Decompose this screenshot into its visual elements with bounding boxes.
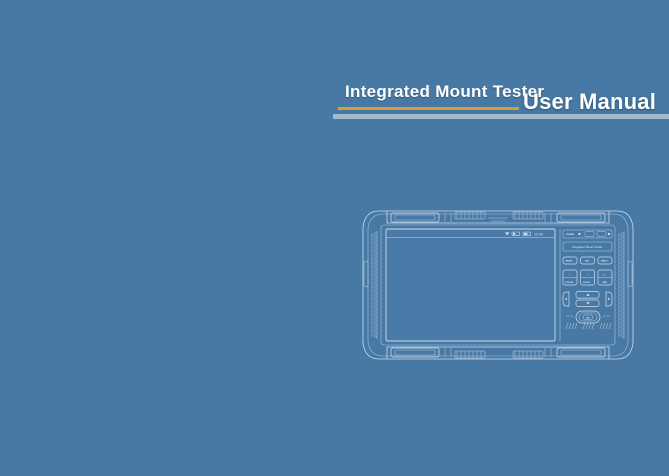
device-screen: 12:00 <box>386 229 555 341</box>
led-indicator-ch <box>585 232 594 237</box>
dpad-down-arrow-icon <box>586 302 590 304</box>
key-menu-label: MENU <box>601 261 608 263</box>
led-indicator-dc <box>608 233 610 235</box>
title-accent-rule <box>338 107 519 110</box>
page-title-product: Integrated Mount Tester <box>345 82 544 102</box>
key-focus[interactable]: + FOCUS <box>563 270 577 285</box>
function-key-row: MODE SET MENU <box>563 257 612 264</box>
key-iris-top-label: +/- <box>603 273 606 276</box>
key-set-label: SET <box>585 261 590 263</box>
control-key-row: + FOCUS + ZOOM +/- IRIS <box>563 270 612 285</box>
key-zoom-label: ZOOM <box>583 282 590 284</box>
device-brand-label: Integrated Mount Tester <box>572 245 603 249</box>
device-brand-plate: Integrated Mount Tester <box>563 242 612 251</box>
manual-cover-page: Integrated Mount Tester User Manual <box>0 0 669 476</box>
key-mode-label: MODE <box>566 261 573 263</box>
device-illustration: 12:00 POWER Integrated Moun <box>357 199 639 371</box>
key-mode[interactable]: MODE <box>563 257 577 264</box>
device-control-panel: POWER Integrated Mount Tester MODE <box>560 229 612 341</box>
device-line-drawing: 12:00 POWER Integrated Moun <box>357 199 639 371</box>
status-bar-time: 12:00 <box>534 232 543 236</box>
dpad-up-arrow-icon <box>586 294 590 296</box>
dpad-down-button[interactable] <box>576 300 599 307</box>
screen-display-area <box>386 229 555 341</box>
title-base-rule <box>333 114 669 119</box>
led-indicator-poe <box>597 232 606 237</box>
dpad-up-button[interactable] <box>576 292 599 299</box>
key-iris-label: IRIS <box>603 282 608 284</box>
key-iris[interactable]: +/- IRIS <box>598 270 612 285</box>
dpad-left-arrow-icon <box>565 298 567 301</box>
key-zoom-top-label: + <box>587 273 589 276</box>
dpad-left-button[interactable] <box>563 292 569 306</box>
dpad-cluster: OK <box>563 292 612 324</box>
key-focus-top-label: + <box>569 273 571 276</box>
key-menu[interactable]: MENU <box>598 257 612 264</box>
cover-title-block: Integrated Mount Tester User Manual <box>0 82 669 124</box>
dpad-right-arrow-icon <box>608 298 610 301</box>
speaker-vent <box>566 323 611 329</box>
page-title-document-type: User Manual <box>523 89 656 115</box>
dpad-ok-button[interactable]: OK <box>576 311 600 323</box>
dpad-ok-label: OK <box>586 317 590 319</box>
key-zoom[interactable]: + ZOOM <box>581 270 595 285</box>
device-bottom-bumper <box>387 347 609 359</box>
indicator-row: POWER <box>563 230 612 238</box>
power-led <box>578 233 580 235</box>
power-label: POWER <box>566 234 575 236</box>
left-grip-texture <box>364 231 377 339</box>
right-grip-texture <box>619 231 632 339</box>
key-set[interactable]: SET <box>581 257 595 264</box>
device-top-bumper <box>387 211 609 223</box>
key-focus-label: FOCUS <box>565 282 573 284</box>
dpad-right-button[interactable] <box>606 292 612 306</box>
